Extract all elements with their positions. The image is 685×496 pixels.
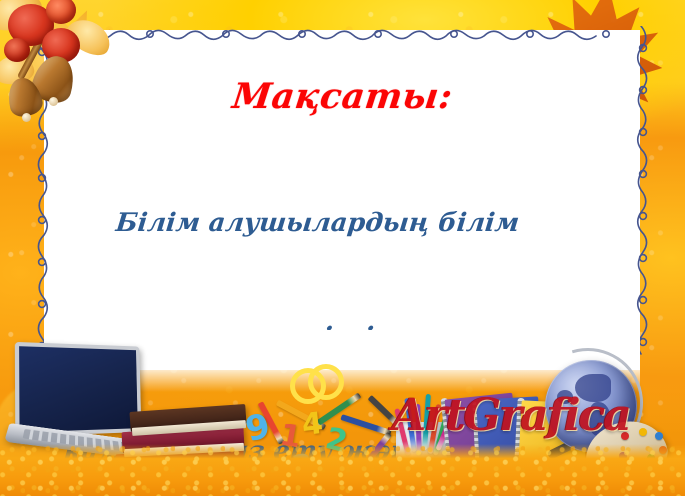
slide-title: Мақсаты: bbox=[0, 76, 685, 117]
slide-body-text: Білім алушылардың білім алуға қол жеткіз… bbox=[18, 128, 666, 496]
rose-icon bbox=[4, 38, 30, 62]
rose-icon bbox=[46, 0, 76, 24]
petal-shape bbox=[0, 0, 47, 37]
body-line: алуға қол жеткізуін bbox=[74, 318, 646, 356]
palette-paint-dot bbox=[635, 460, 643, 468]
palette-paint-dot bbox=[647, 454, 655, 462]
palette-paint-dot bbox=[659, 446, 667, 454]
body-line: Білім алушылардың білім bbox=[86, 204, 658, 242]
presentation-slide: Мақсаты: Білім алушылардың білім алуға қ… bbox=[0, 0, 685, 496]
palette-paint-dot bbox=[639, 428, 647, 436]
palette-paint-dot bbox=[655, 432, 663, 440]
body-line: қамтамасыз ету және олардың bbox=[62, 432, 634, 470]
